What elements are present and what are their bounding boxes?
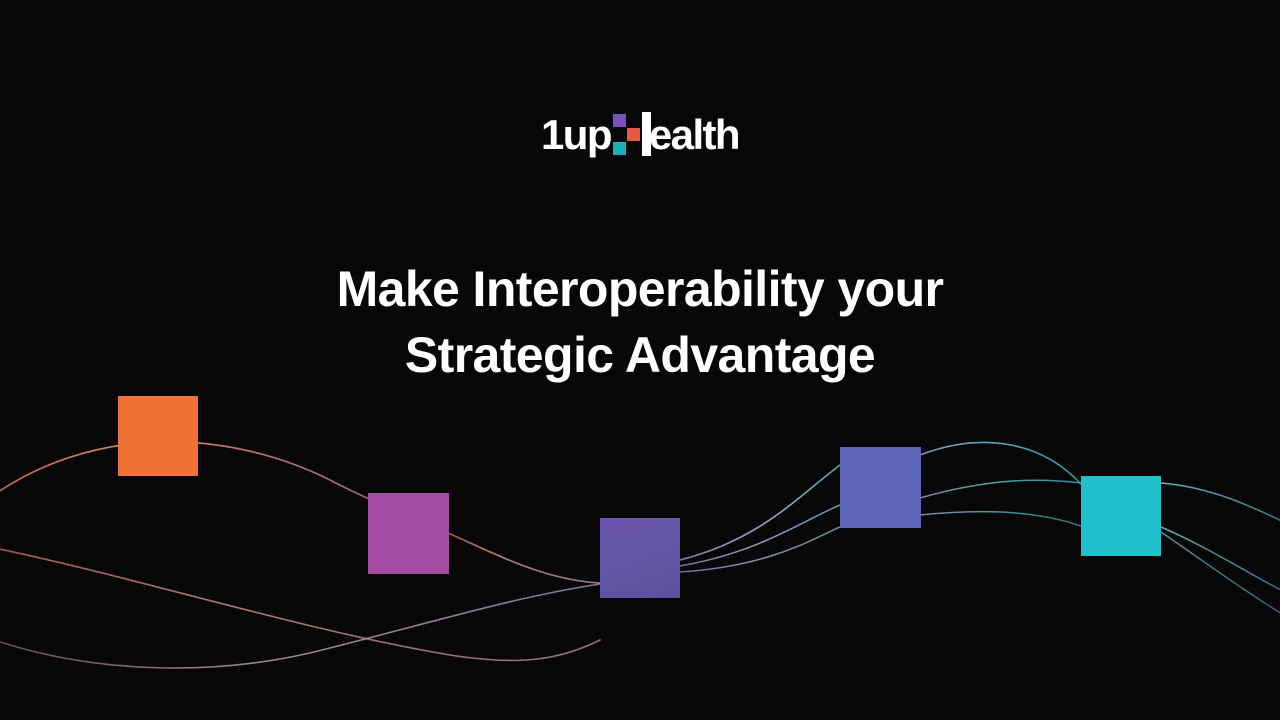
slide-root: 1up ealth Make Interoperability your Str… — [0, 0, 1280, 720]
node-blue — [840, 447, 921, 528]
node-orange — [118, 396, 198, 476]
curve-arc-top — [0, 442, 410, 515]
curve-teal-exit-lower — [1161, 532, 1280, 625]
logo-h-mark-icon — [613, 114, 649, 156]
headline-line-1: Make Interoperability your — [0, 256, 1280, 322]
logo-h-stem — [642, 112, 651, 156]
curve-lower-wave — [0, 584, 600, 668]
curve-center-to-blue-top — [680, 465, 840, 560]
curve-teal-exit-mid — [1161, 527, 1280, 600]
headline-line-2: Strategic Advantage — [0, 322, 1280, 388]
curve-group-warm — [0, 442, 600, 668]
curve-descend-left — [0, 545, 600, 660]
node-magenta — [368, 493, 449, 574]
curve-group-cool — [680, 442, 1280, 625]
node-purple — [600, 518, 680, 598]
node-teal — [1081, 476, 1161, 556]
page-title: Make Interoperability your Strategic Adv… — [0, 256, 1280, 388]
brand-logo: 1up ealth — [0, 104, 1280, 156]
logo-text-ealth: ealth — [649, 114, 739, 156]
logo-square-teal-icon — [613, 142, 626, 155]
curve-blue-low-to-teal — [920, 512, 1081, 526]
logo-text-1up: 1up — [541, 114, 611, 156]
curve-blue-mid-to-teal — [920, 480, 1081, 498]
curve-magenta-to-center — [448, 533, 600, 583]
curve-teal-exit-upper — [1161, 483, 1280, 530]
logo-square-orange-icon — [627, 128, 640, 141]
curve-center-to-blue-mid — [680, 505, 840, 566]
curve-blue-arc-to-teal — [920, 442, 1081, 484]
logo-square-purple-icon — [613, 114, 626, 127]
curve-center-to-blue-low — [680, 527, 840, 572]
